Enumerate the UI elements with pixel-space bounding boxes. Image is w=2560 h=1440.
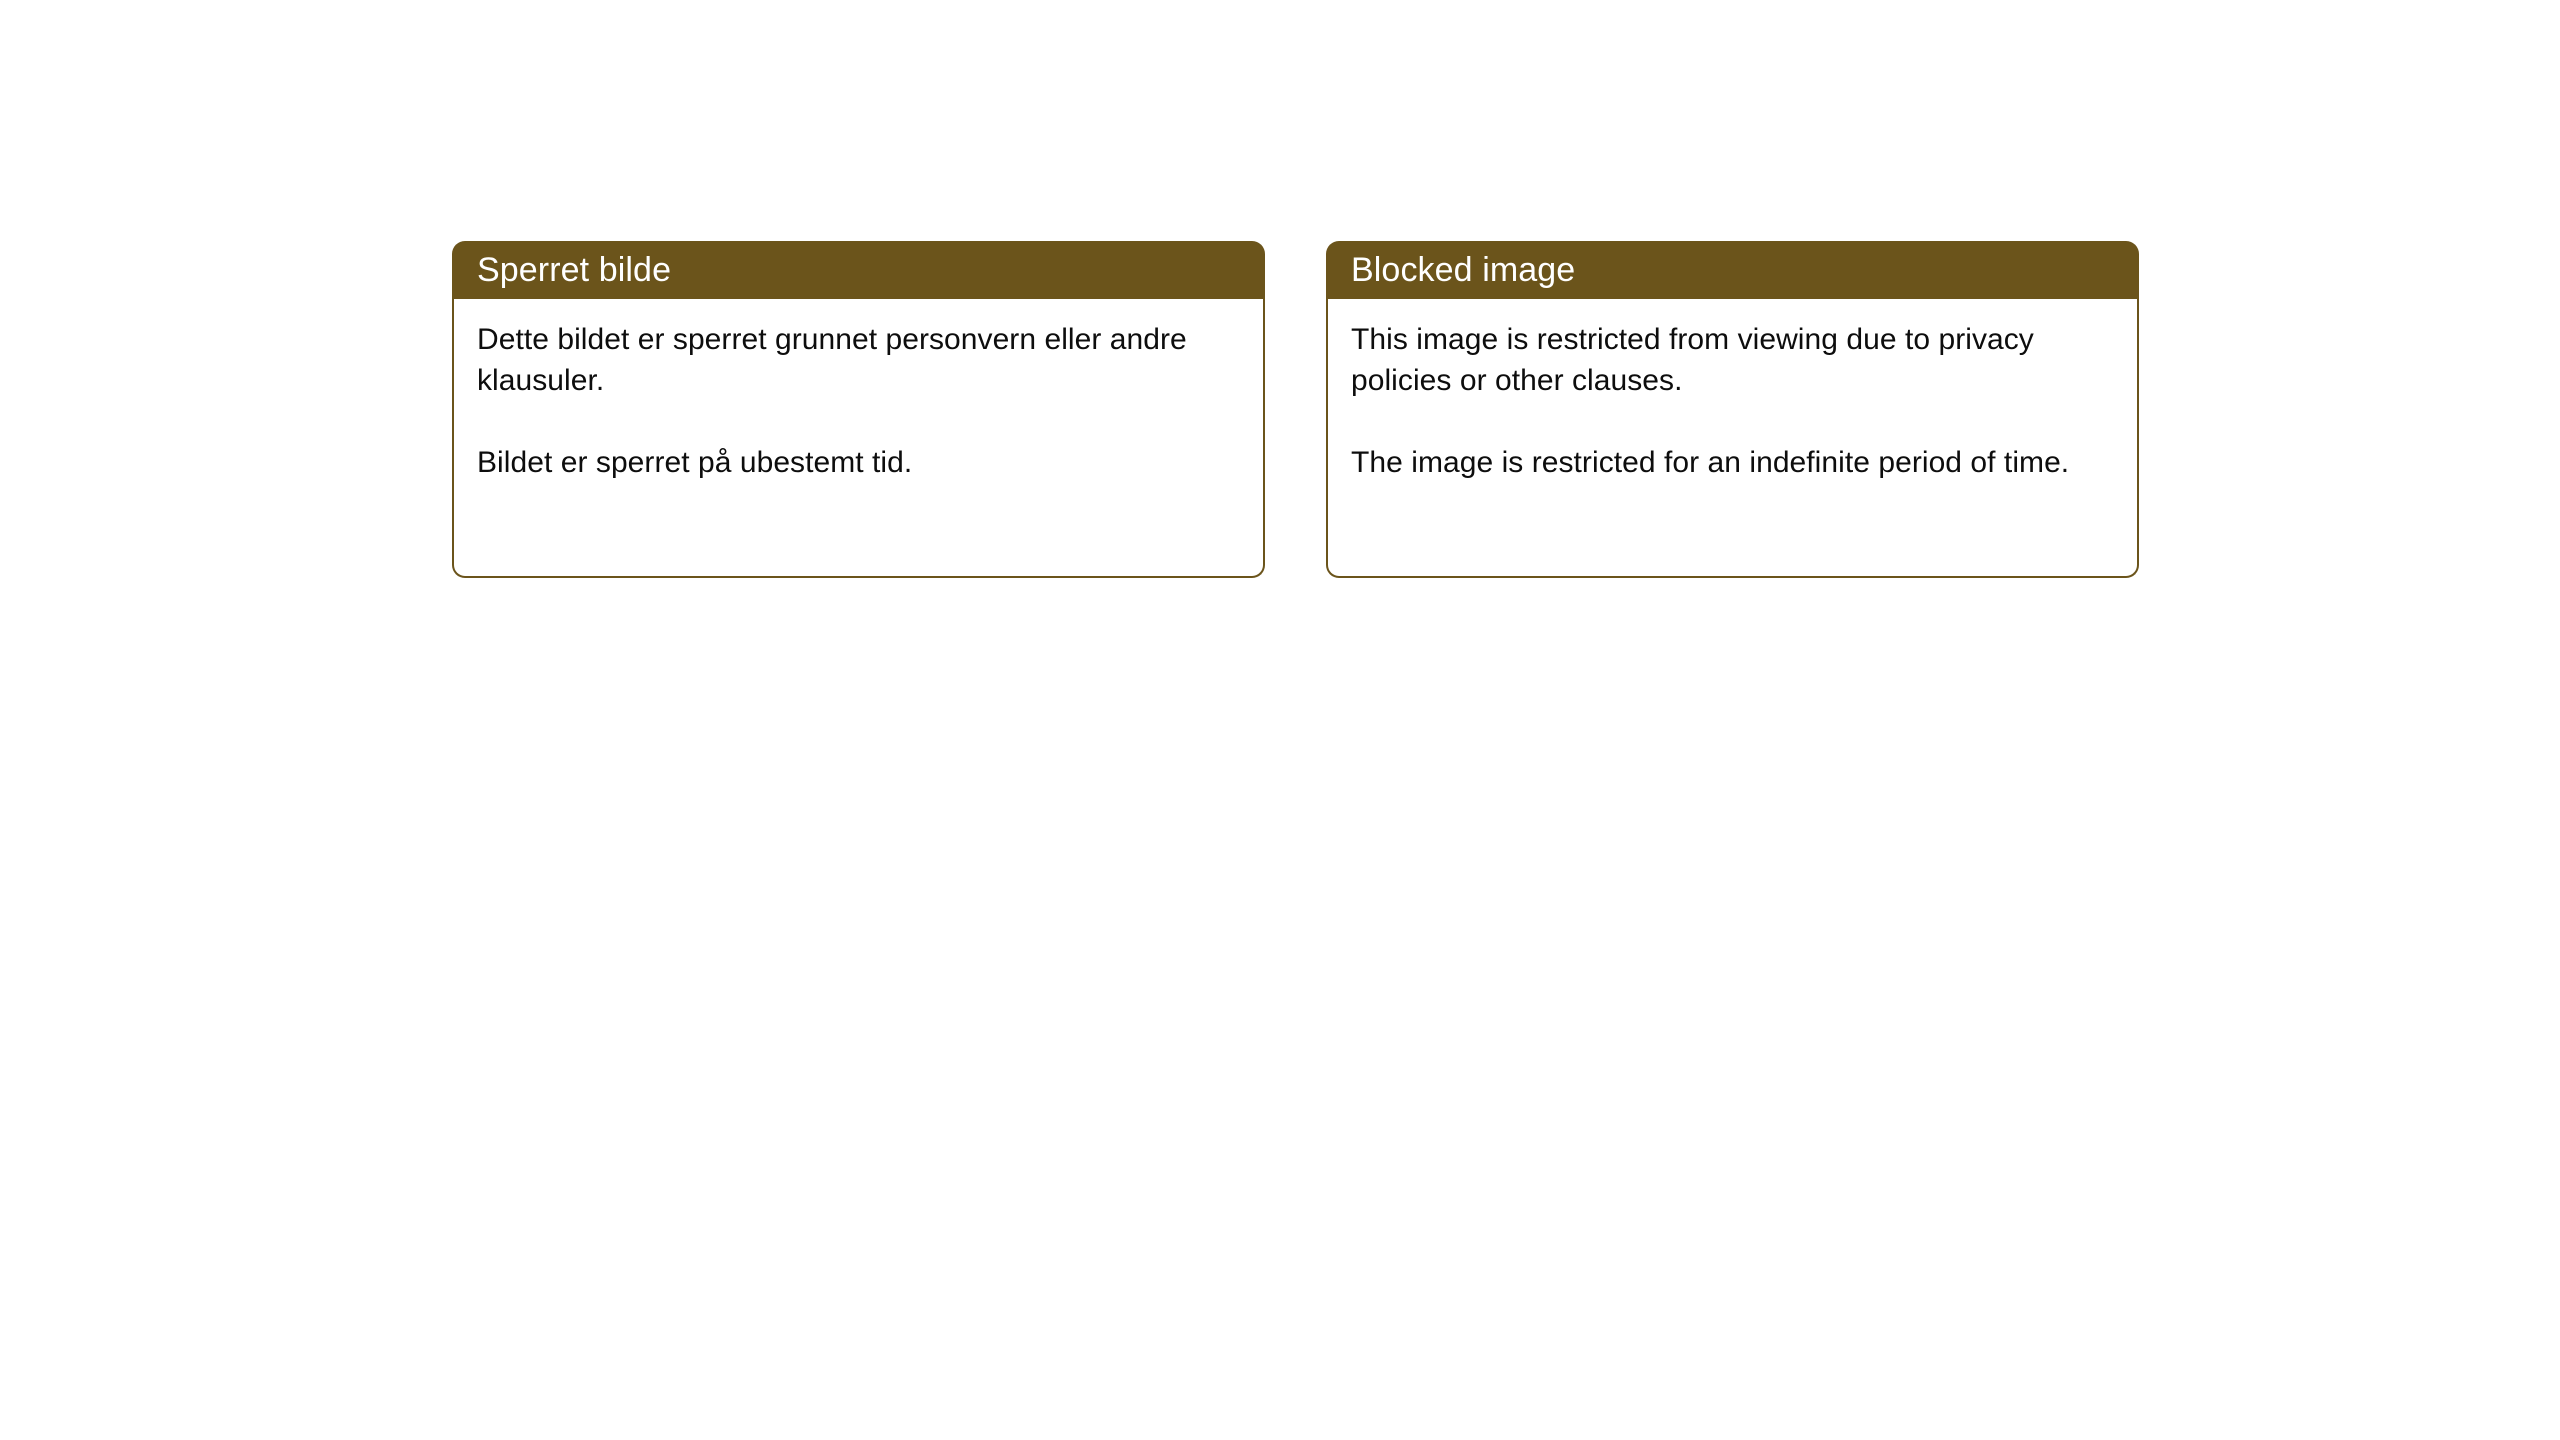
card-body-norwegian: Dette bildet er sperret grunnet personve…	[452, 299, 1265, 578]
blocked-image-notice-group: Sperret bilde Dette bildet er sperret gr…	[452, 241, 2139, 578]
card-paragraph-privacy-english: This image is restricted from viewing du…	[1351, 319, 2113, 401]
card-paragraph-duration-english: The image is restricted for an indefinit…	[1351, 442, 2113, 483]
card-paragraph-duration-norwegian: Bildet er sperret på ubestemt tid.	[477, 442, 1239, 483]
card-header-norwegian: Sperret bilde	[452, 241, 1265, 299]
blocked-image-card-english: Blocked image This image is restricted f…	[1326, 241, 2139, 578]
card-header-english: Blocked image	[1326, 241, 2139, 299]
blocked-image-card-norwegian: Sperret bilde Dette bildet er sperret gr…	[452, 241, 1265, 578]
card-body-english: This image is restricted from viewing du…	[1326, 299, 2139, 578]
card-title-english: Blocked image	[1351, 253, 1575, 287]
card-title-norwegian: Sperret bilde	[477, 253, 671, 287]
card-paragraph-privacy-norwegian: Dette bildet er sperret grunnet personve…	[477, 319, 1239, 401]
